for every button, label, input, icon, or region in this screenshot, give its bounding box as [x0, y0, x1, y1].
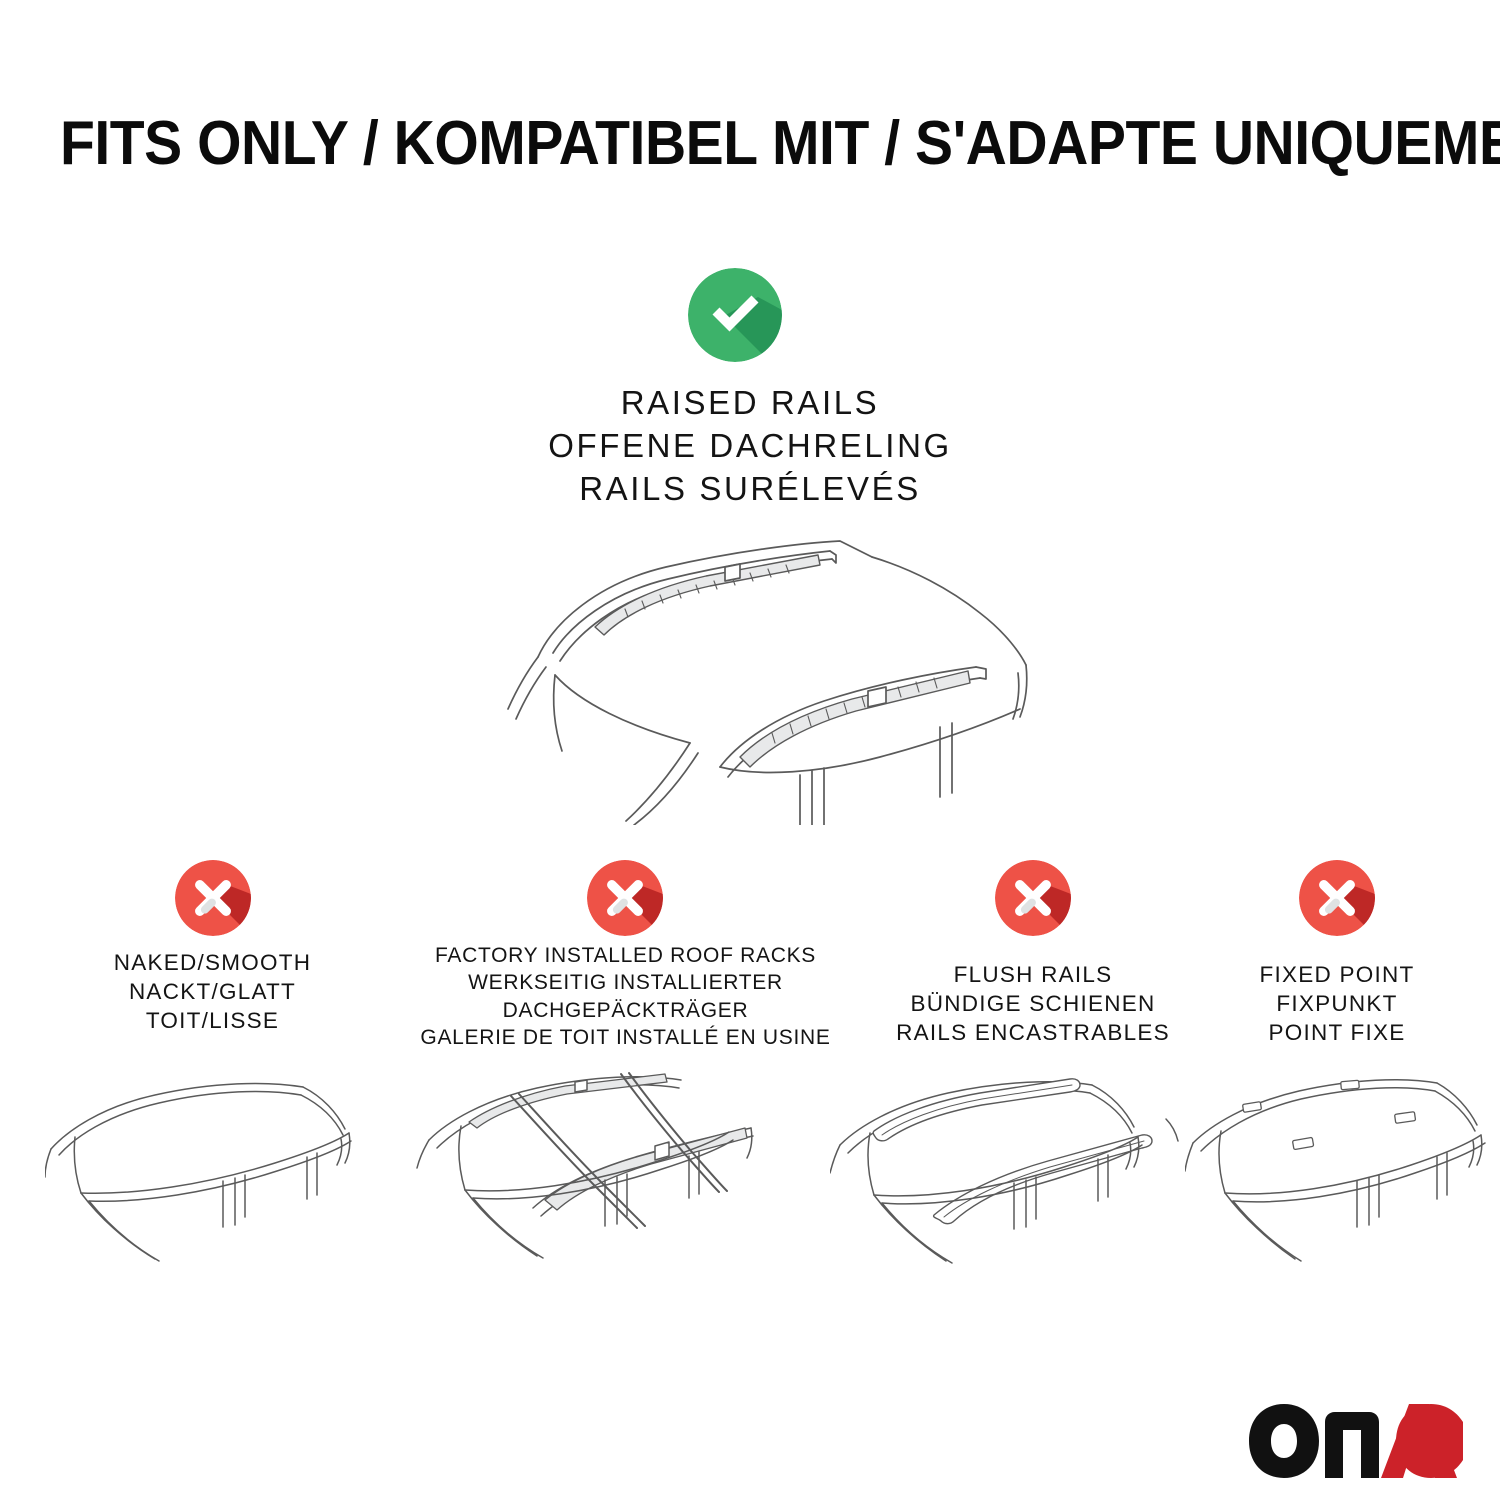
car-roof-fixed-point-illustration [1185, 1065, 1495, 1280]
car-roof-factory-racks-illustration [415, 1060, 770, 1280]
car-roof-raised-rails-illustration [420, 505, 1110, 825]
omac-logo [1243, 1398, 1463, 1484]
incompatible-label-2: FACTORY INSTALLED ROOF RACKS WERKSEITIG … [393, 942, 858, 1051]
cross-circle-icon [1299, 860, 1375, 936]
incompatible-label-4-line-3: POINT FIXE [1167, 1018, 1500, 1047]
page-title: FITS ONLY / KOMPATIBEL MIT / S'ADAPTE UN… [60, 108, 1440, 179]
incompatible-label-2-line-2: WERKSEITIG INSTALLIERTER [393, 969, 858, 996]
cross-circle-icon [175, 860, 251, 936]
incompatible-label-1-line-2: NACKT/GLATT [10, 977, 415, 1006]
cross-circle-icon [995, 860, 1071, 936]
compatible-label-line-2: OFFENE DACHRELING [0, 425, 1500, 468]
incompatible-label-1: NAKED/SMOOTH NACKT/GLATT TOIT/LISSE [10, 948, 415, 1035]
car-roof-flush-rails-illustration [830, 1065, 1180, 1280]
incompatible-label-2-line-1: FACTORY INSTALLED ROOF RACKS [393, 942, 858, 969]
incompatible-label-2-line-4: GALERIE DE TOIT INSTALLÉ EN USINE [393, 1024, 858, 1051]
incompatible-label-1-line-1: NAKED/SMOOTH [10, 948, 415, 977]
car-roof-naked-smooth-illustration [45, 1065, 385, 1280]
compatible-label: RAISED RAILS OFFENE DACHRELING RAILS SUR… [0, 382, 1500, 511]
incompatible-label-4-line-1: FIXED POINT [1167, 960, 1500, 989]
check-circle-icon [688, 268, 782, 362]
cross-circle-icon [587, 860, 663, 936]
incompatible-label-1-line-3: TOIT/LISSE [10, 1006, 415, 1035]
compatible-label-line-1: RAISED RAILS [0, 382, 1500, 425]
incompatible-label-2-line-3: DACHGEPÄCKTRÄGER [393, 997, 858, 1024]
incompatible-label-4-line-2: FIXPUNKT [1167, 989, 1500, 1018]
incompatible-label-4: FIXED POINT FIXPUNKT POINT FIXE [1167, 960, 1500, 1047]
